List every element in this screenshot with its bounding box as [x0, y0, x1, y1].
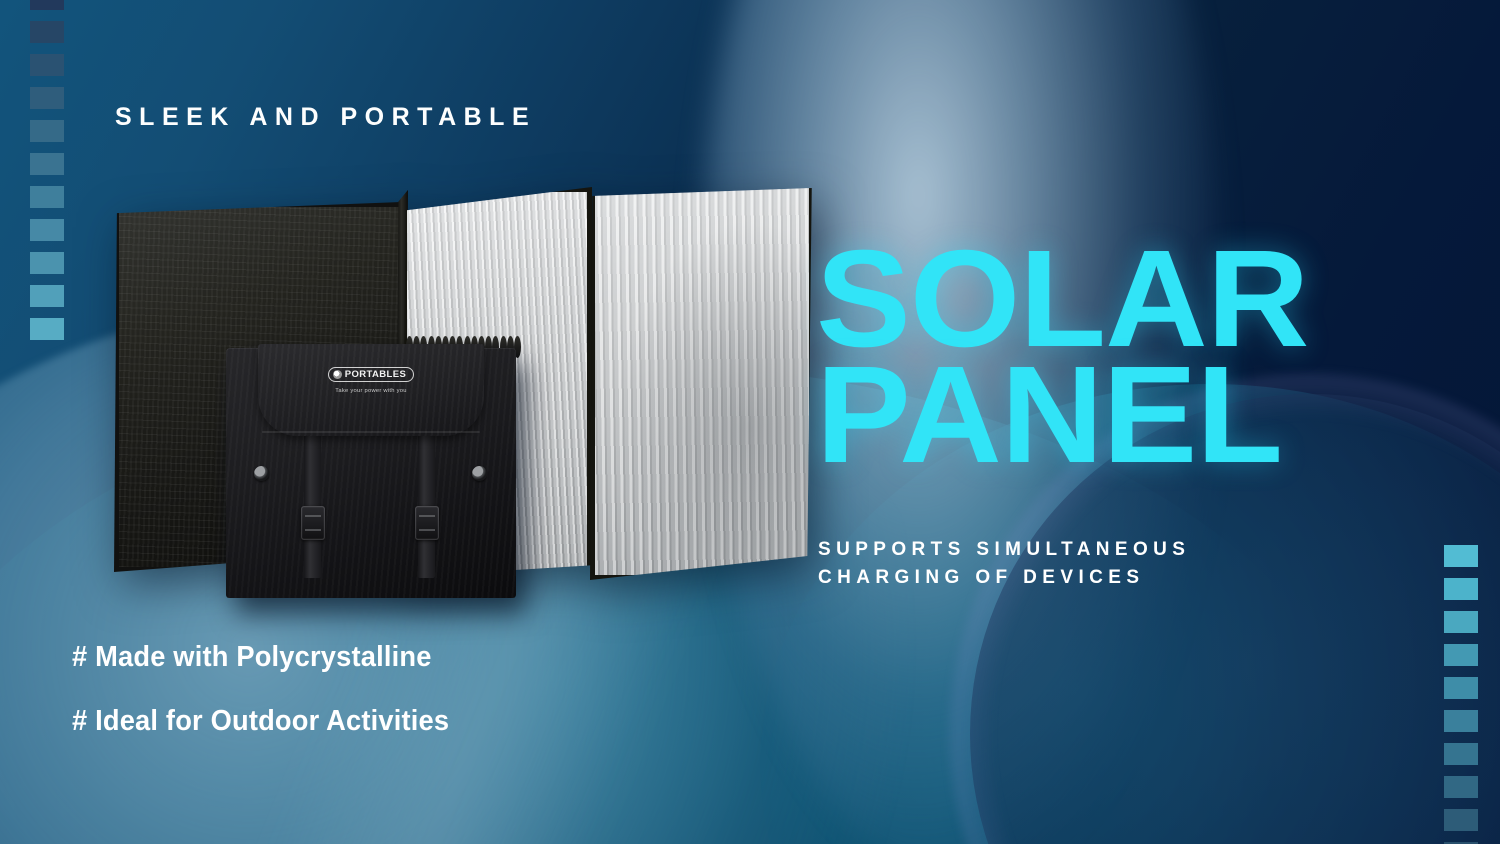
- dash-segment-8: [1444, 776, 1478, 798]
- grommet-right: [472, 466, 487, 481]
- dash-segment-4: [1444, 644, 1478, 666]
- grommet-left: [254, 466, 269, 481]
- dash-segment-1: [1444, 545, 1478, 567]
- feature-item: # Made with Polycrystalline: [72, 641, 449, 674]
- brand-logo: PORTABLES Take your power with you: [286, 366, 456, 394]
- promo-banner: SLEEK AND PORTABLE PORTABLES: [0, 0, 1500, 844]
- brand-tagline: Take your power with you: [286, 388, 456, 394]
- case-flap: PORTABLES Take your power with you: [258, 344, 484, 436]
- brand-mark-icon: [333, 370, 342, 379]
- page-title: SOLAR PANEL: [816, 244, 1308, 471]
- solar-cell-section-silver-2: [590, 180, 814, 580]
- right-dash-decoration: [1444, 545, 1478, 844]
- dash-segment-4: [30, 87, 64, 109]
- dash-segment-6: [1444, 710, 1478, 732]
- buckle-icon: [301, 506, 325, 540]
- buckle-icon: [415, 506, 439, 540]
- title-line-2: PANEL: [816, 360, 1308, 470]
- dash-segment-9: [1444, 809, 1478, 831]
- left-dash-decoration: [30, 0, 64, 351]
- feature-item: # Ideal for Outdoor Activities: [72, 705, 449, 738]
- eyebrow-heading: SLEEK AND PORTABLE: [115, 103, 536, 132]
- dash-segment-10: [30, 285, 64, 307]
- dash-segment-8: [30, 219, 64, 241]
- brand-name: PORTABLES: [345, 369, 406, 380]
- dash-segment-3: [30, 54, 64, 76]
- carry-case: PORTABLES Take your power with you: [226, 348, 516, 598]
- dash-segment-11: [30, 318, 64, 340]
- dash-segment-1: [30, 0, 64, 10]
- dash-segment-2: [1444, 578, 1478, 600]
- dash-segment-7: [30, 186, 64, 208]
- dash-segment-2: [30, 21, 64, 43]
- subtitle-line-1: SUPPORTS SIMULTANEOUS: [818, 536, 1190, 564]
- dash-segment-5: [30, 120, 64, 142]
- subtitle-line-2: CHARGING OF DEVICES: [818, 564, 1190, 592]
- product-image: PORTABLES Take your power with you: [96, 190, 816, 610]
- brand-logo-pill: PORTABLES: [328, 367, 414, 382]
- feature-list: # Made with Polycrystalline # Ideal for …: [72, 641, 473, 769]
- dash-segment-5: [1444, 677, 1478, 699]
- dash-segment-3: [1444, 611, 1478, 633]
- dash-segment-9: [30, 252, 64, 274]
- subtitle: SUPPORTS SIMULTANEOUS CHARGING OF DEVICE…: [818, 536, 1190, 592]
- dash-segment-7: [1444, 743, 1478, 765]
- dash-segment-6: [30, 153, 64, 175]
